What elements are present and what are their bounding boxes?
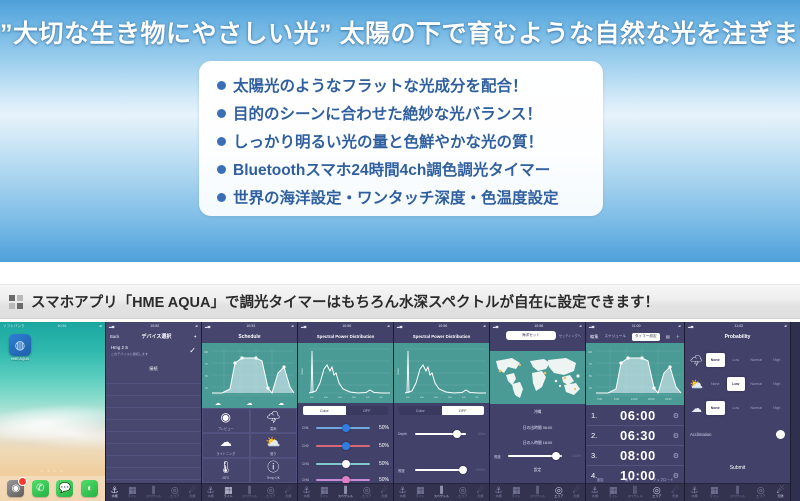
slider-ch2[interactable]: CH2 50%	[302, 440, 389, 452]
info-icon: ⓘ	[267, 461, 279, 474]
svg-text:620: 620	[366, 397, 370, 399]
app-icon-hme-aqua[interactable]: ◍	[9, 334, 31, 356]
svg-text:18:00: 18:00	[648, 397, 655, 401]
sun-cloud-icon: ⛅	[266, 436, 281, 449]
prob-option-none[interactable]: None	[706, 401, 725, 415]
gear-icon[interactable]: ⚙	[673, 412, 679, 420]
battery-icon: ▰	[678, 324, 681, 328]
prob-option-normal[interactable]: Normal	[747, 353, 766, 367]
hero-banner: ”大切な生き物にやさしい光” 太陽の下で育むような自然な光を注ぎます 太陽光のよ…	[0, 0, 800, 262]
tab-light[interactable]: ▦ライト	[608, 486, 617, 499]
status-bar: ソフトバンク 10:51 ▰	[0, 322, 105, 330]
nav-sub: スケジュール	[605, 334, 626, 339]
bullet-dot-icon	[217, 165, 226, 174]
slider-label: Depth	[398, 432, 412, 436]
status-bar: ▂▄ 10:58 ▰	[490, 322, 585, 330]
timer-index: 1.	[591, 411, 603, 420]
slider-label: CH4	[302, 478, 313, 482]
sunrise-label: 日の出時間 06:00	[490, 426, 585, 431]
battery-icon: ▰	[99, 324, 102, 328]
tab-tank[interactable]: ⚓水槽	[591, 486, 599, 499]
table-row: 🌩 None Low Normal High	[688, 348, 787, 372]
nav-title: Spectral Power Distribution	[317, 334, 375, 339]
carrier-label: ▂▄	[493, 324, 498, 328]
slider-brightness[interactable]: 照度 100%	[398, 464, 485, 476]
slider-label: 照度	[398, 468, 412, 473]
slider-knob[interactable]	[342, 424, 350, 432]
cloud-rain-icon: ☁	[688, 402, 705, 415]
acclimation-row[interactable]: Acclimation	[690, 430, 785, 439]
tab-tank[interactable]: ⚓水槽	[207, 486, 215, 499]
cloud-bolt-icon: ☁	[220, 436, 232, 449]
carrier-label: ▂▄	[109, 324, 114, 328]
battery-icon: ▰	[784, 324, 787, 328]
prob-option-high[interactable]: High	[768, 401, 787, 415]
clock-label: 10:55	[342, 324, 351, 328]
slider-knob[interactable]	[459, 466, 467, 474]
battery-icon: ▰	[483, 324, 486, 328]
svg-text:440: 440	[420, 397, 424, 399]
timer-time: 06:00	[603, 408, 673, 423]
tab-weather[interactable]: ☄天候	[776, 486, 784, 499]
phone-probability: ▂▄ 11:02 ▰ Probability 🌩 None Low Normal…	[685, 322, 791, 501]
region-label: 沖縄	[490, 410, 585, 415]
phone-spd-channels: ▂▄ 10:55 ▰ Spectral Power Distribution	[298, 322, 394, 501]
prob-option-normal[interactable]: Normal	[747, 401, 766, 415]
device-row[interactable]: Hmg 2 S このデバイスに接続します	[106, 343, 201, 358]
timer-time: 08:00	[603, 448, 673, 463]
tab-weather[interactable]: ☄天候	[188, 486, 196, 499]
device-name: Hmg 2 S	[111, 345, 196, 350]
slider-value: 50%	[373, 443, 389, 449]
battery-icon: ▰	[195, 324, 198, 328]
tab-bar: ⚓水槽 ▦ライト ⫼スペクトル ◎エリア ☄天候	[586, 483, 684, 501]
slider-value: 50%	[373, 461, 389, 467]
tab-bar: ⚓水槽 ▦ライト ⫼スペクトル ◎エリア ☄天候	[106, 483, 201, 501]
status-bar: ▂▄ 11:02 ▰	[685, 322, 790, 330]
app-screenshot-strip: ソフトバンク 10:51 ▰ ◍ HME AQUA • • • • ◉ ✆ 💬 …	[0, 322, 800, 501]
bullet-dot-icon	[217, 81, 226, 90]
tab-bar: ⚓水槽 ▦ライト ⫼スペクトル ◎エリア ☄天候	[202, 483, 297, 501]
eye-icon: ◉	[221, 411, 231, 424]
prob-option-high[interactable]: High	[768, 377, 787, 391]
slider-knob[interactable]	[342, 460, 350, 468]
slider-track[interactable]	[316, 479, 370, 481]
feature-text: しっかり明るい光の量と色鮮やかな光の質！	[233, 130, 543, 152]
status-bar: ▂▄ 10:56 ▰	[394, 322, 489, 330]
tab-weather[interactable]: ☄天候	[284, 486, 292, 499]
feature-text: 目的のシーンに合わせた絶妙な光バランス！	[233, 102, 542, 124]
svg-text:24:00: 24:00	[665, 397, 672, 401]
carrier-label: ▂▄	[205, 324, 210, 328]
timer-curve-svg: 0:006:00 12:0018:00 24:00 10075 5025	[586, 343, 684, 405]
svg-text:500: 500	[434, 397, 438, 399]
tab-light[interactable]: ▦ライト	[416, 486, 425, 499]
phone-icon[interactable]: ✆	[32, 480, 49, 497]
tab-area[interactable]: ◎エリア	[170, 486, 179, 499]
bullet-dot-icon	[217, 109, 226, 118]
tab-spectrum[interactable]: ⫼スペクトル	[242, 486, 257, 499]
spd-chart: 380440500 560620700 Power	[298, 343, 393, 403]
nav-bar: Back デバイス選択 ✦	[106, 330, 201, 343]
tile-label: 28°C	[222, 476, 229, 480]
tab-light[interactable]: ▦ライト	[710, 486, 719, 499]
clock-label: 10:56	[438, 324, 447, 328]
carrier-label: ▂▄	[301, 324, 306, 328]
slider-depth[interactable]: Depth 60m	[398, 428, 485, 440]
phone-spd-depth: ▂▄ 10:56 ▰ Spectral Power Distribution	[394, 322, 490, 501]
tile-thunderstorm[interactable]: 🌩 雷雨	[250, 408, 298, 433]
status-bar: ▂▄ 11:00 ▰	[586, 322, 684, 330]
slider-track[interactable]	[316, 445, 370, 447]
page-root: ”大切な生き物にやさしい光” 太陽の下で育むような自然な光を注ぎます 太陽光のよ…	[0, 0, 800, 501]
prob-option-low[interactable]: Low	[727, 401, 746, 415]
svg-text:500: 500	[338, 397, 342, 399]
phone-world-map: ▂▄ 10:58 ▰ 海洋セット セッティングへ	[490, 322, 586, 501]
svg-text:0:00: 0:00	[597, 397, 603, 401]
slider-label: 照度	[494, 454, 505, 459]
battery-icon: ▰	[291, 324, 294, 328]
slider-track[interactable]	[415, 469, 466, 471]
tab-bar: ⚓水槽 ▦ライト ⫼スペクトル ◎エリア ☄天候	[490, 483, 585, 501]
tab-weather[interactable]: ☄天候	[476, 486, 484, 499]
storm-cloud-icon: 🌩	[266, 411, 281, 424]
slider-ch1[interactable]: CH1 50%	[302, 422, 389, 434]
world-map-image[interactable]	[490, 351, 585, 404]
tile-cloudy[interactable]: ⛅ 曇り	[250, 433, 298, 458]
svg-text:560: 560	[352, 397, 356, 399]
page-dots: • • • •	[0, 468, 105, 473]
clock-label: 10:58	[534, 324, 543, 328]
list-item: 世界の海洋設定・ワンタッチ深度・色温度設定	[217, 184, 593, 210]
weather-timeline: ☁ ☁ ☁	[202, 398, 297, 408]
svg-text:700: 700	[379, 397, 383, 399]
tab-area[interactable]: ◎エリア	[362, 486, 371, 499]
gear-icon[interactable]: ⚙	[673, 452, 679, 460]
carrier-label: ソフトバンク	[3, 324, 25, 329]
svg-text:Power: Power	[301, 368, 304, 375]
prob-option-none[interactable]: None	[706, 377, 725, 391]
sunset-label: 日の入時間 18:00	[490, 441, 585, 446]
tab-spectrum[interactable]: ⫼スペクトル	[146, 486, 161, 499]
tab-bar: ⚓水槽 ▦ライト ⫼スペクトル ◎エリア ☄天候	[298, 483, 393, 501]
nav-title: Spectral Power Distribution	[413, 334, 471, 339]
slider-value: 60m	[469, 432, 485, 436]
nav-bar: Probability	[685, 330, 790, 343]
notification-badge	[18, 477, 27, 486]
tab-tank[interactable]: ⚓水槽	[691, 486, 699, 499]
apply-button[interactable]: 設定	[490, 468, 585, 473]
add-action[interactable]: 追加	[597, 477, 604, 482]
tab-area[interactable]: ◎エリア	[554, 486, 563, 499]
camera-icon[interactable]: ◉	[7, 480, 24, 497]
battery-icon: ▰	[387, 324, 390, 328]
slider-label: CH1	[302, 426, 313, 430]
tile-temp-status[interactable]: ⓘ Temp OK	[250, 458, 298, 483]
slider-knob[interactable]	[552, 452, 560, 460]
feature-text: 世界の海洋設定・ワンタッチ深度・色温度設定	[233, 186, 559, 208]
slider-brightness[interactable]: 照度 100%	[494, 450, 581, 462]
dock: ◉ ✆ 💬 ◖	[0, 476, 105, 501]
phone-schedule: ▂▄ 10:53 ▰ Schedule	[202, 322, 298, 501]
tab-area[interactable]: ◎エリア	[756, 486, 765, 499]
slider-value: 100%	[469, 468, 485, 472]
timer-index: 3.	[591, 451, 603, 460]
table-row: ☁ None Low Normal High	[688, 396, 787, 420]
slider-knob[interactable]	[342, 442, 350, 450]
gear-icon[interactable]: ⚙	[673, 432, 679, 440]
svg-text:440: 440	[324, 397, 328, 399]
list-item: Bluetoothスマホ24時間4ch調色調光タイマー	[217, 156, 593, 182]
tile-lightning[interactable]: ☁ ライトニング	[202, 433, 250, 458]
svg-text:100: 100	[204, 351, 209, 354]
storm-cloud-icon: 🌩	[688, 354, 705, 367]
prob-option-none[interactable]: None	[706, 353, 725, 367]
nav-bar: Schedule	[202, 330, 297, 343]
prob-option-normal[interactable]: Normal	[747, 377, 766, 391]
svg-text:75: 75	[589, 363, 592, 366]
schedule-curve-svg: 0:006:00 12:0018:00 24:00 10075 5025	[202, 343, 297, 405]
mode-segmented-control[interactable]: Color OFF	[303, 406, 388, 415]
nav-title: Probability	[725, 334, 751, 340]
submit-button[interactable]: Submit	[685, 465, 790, 471]
svg-text:Power: Power	[397, 368, 400, 375]
timer-setting-pill[interactable]: タイマー設定	[632, 333, 660, 341]
tab-light[interactable]: ▦ライト	[320, 486, 329, 499]
clock-label: 11:00	[632, 324, 641, 328]
phone-timer-list: ▂▄ 11:00 ▰ 編集 スケジュール タイマー設定 ▤ ＋	[586, 322, 685, 501]
copy-action[interactable]: 複写	[625, 477, 632, 482]
cloud-icon: ☁	[246, 400, 252, 407]
tab-area[interactable]: ◎エリア	[652, 486, 661, 499]
tab-tank[interactable]: ⚓水槽	[495, 486, 503, 499]
tile-temperature[interactable]: 🌡 28°C	[202, 458, 250, 483]
bullet-dot-icon	[217, 193, 226, 202]
cloud-icon: ☁	[278, 400, 284, 407]
svg-text:380: 380	[310, 397, 314, 399]
battery-icon: ▰	[579, 324, 582, 328]
ocean-preset-button[interactable]: 海洋セット	[506, 331, 556, 340]
svg-text:25: 25	[205, 387, 208, 390]
slider-label: CH2	[302, 444, 313, 448]
tab-weather[interactable]: ☄天候	[671, 486, 679, 499]
svg-text:25: 25	[589, 387, 592, 390]
tab-bar: ⚓水槽 ▦ライト ⫼スペクトル ◎エリア ☄天候	[394, 483, 489, 501]
tab-area[interactable]: ◎エリア	[266, 486, 275, 499]
mode-segmented-control[interactable]: Color OFF	[399, 406, 484, 415]
check-icon: ✓	[189, 346, 196, 355]
slider-track[interactable]	[508, 455, 562, 457]
seg-color[interactable]: Color	[303, 406, 346, 415]
svg-text:50: 50	[205, 375, 208, 378]
slider-track[interactable]	[316, 427, 370, 429]
prob-option-low[interactable]: Low	[727, 353, 746, 367]
svg-text:560: 560	[448, 397, 452, 399]
section-title: スマホアプリ「HME AQUA」で調光タイマーはもちろん水深スペクトルが自在に設…	[31, 291, 659, 312]
tab-spectrum[interactable]: ⫼スペクトル	[530, 486, 545, 499]
nav-title: Schedule	[238, 334, 260, 340]
tab-tank[interactable]: ⚓水槽	[111, 486, 119, 499]
tile-label: プレビュー	[218, 426, 234, 431]
edit-button[interactable]: 編集	[590, 334, 598, 340]
nav-title: デバイス選択	[141, 333, 171, 340]
nav-bar: Spectral Power Distribution	[298, 330, 393, 343]
svg-text:6:00: 6:00	[614, 397, 620, 401]
back-button[interactable]: Back	[110, 334, 119, 339]
empty-rows	[106, 372, 201, 492]
svg-text:620: 620	[462, 397, 466, 399]
seg-off[interactable]: OFF	[346, 406, 389, 415]
feature-card: 太陽光のようなフラットな光成分を配合！ 目的のシーンに合わせた絶妙な光バランス！…	[199, 61, 603, 216]
toggle-knob[interactable]	[776, 430, 785, 439]
probability-grid: 🌩 None Low Normal High ⛅ None Low Normal…	[688, 348, 787, 420]
carrier-label: ▂▄	[397, 324, 402, 328]
tile-label: 曇り	[270, 451, 276, 456]
spd-curve-svg: 380440500 560620700 Power	[298, 343, 393, 403]
tile-label: ライトニング	[216, 451, 235, 456]
cloud-icon: ☁	[215, 400, 221, 407]
spd-curve-svg: 380440500 560620700 Power	[394, 343, 489, 403]
tab-spectrum[interactable]: ⫼スペクトル	[730, 486, 745, 499]
phone-home-screen: ソフトバンク 10:51 ▰ ◍ HME AQUA • • • • ◉ ✆ 💬 …	[0, 322, 106, 501]
tile-preview[interactable]: ◉ プレビュー	[202, 408, 250, 433]
bullet-dot-icon	[217, 137, 226, 146]
slider-track[interactable]	[316, 463, 370, 465]
tab-tank[interactable]: ⚓水槽	[399, 486, 407, 499]
table-row: ⛅ None Low Normal High	[688, 372, 787, 396]
slider-value: 50%	[373, 425, 389, 431]
tab-tank[interactable]: ⚓水槽	[303, 486, 311, 499]
tab-light[interactable]: ▦ライト	[128, 486, 137, 499]
line-icon[interactable]: ◖	[81, 480, 98, 497]
svg-text:700: 700	[475, 397, 479, 399]
clock-label: 10:51	[57, 324, 66, 328]
seg-off[interactable]: OFF	[442, 406, 485, 415]
slider-track[interactable]	[415, 433, 466, 435]
section-header: スマホアプリ「HME AQUA」で調光タイマーはもちろん水深スペクトルが自在に設…	[0, 284, 800, 319]
list-item: 目的のシーンに合わせた絶妙な光バランス！	[217, 100, 593, 126]
svg-text:50: 50	[589, 375, 592, 378]
grid-2x2-icon	[9, 295, 23, 309]
seg-color[interactable]: Color	[399, 406, 442, 415]
tile-label: 雷雨	[270, 426, 276, 431]
timer-time: 06:30	[603, 428, 673, 443]
carrier-label: ▂▄	[688, 324, 693, 328]
tab-area[interactable]: ◎エリア	[458, 486, 467, 499]
status-bar: ▂▄ 10:55 ▰	[298, 322, 393, 330]
schedule-chart: 0:006:00 12:0018:00 24:00 10075 5025	[202, 343, 297, 405]
prob-option-high[interactable]: High	[768, 353, 787, 367]
timer-chart: 0:006:00 12:0018:00 24:00 10075 5025	[586, 343, 684, 405]
tab-spectrum[interactable]: ⫼スペクトル	[338, 486, 353, 499]
table-row[interactable]: 3. 08:00 ⚙	[586, 446, 684, 466]
hero-title: ”大切な生き物にやさしい光” 太陽の下で育むような自然な光を注ぎます	[0, 14, 800, 50]
tab-spectrum[interactable]: ⫼スペクトル	[434, 486, 449, 499]
tab-light[interactable]: ▦ライト	[512, 486, 521, 499]
svg-text:100: 100	[588, 351, 593, 354]
bulb-icon: ◍	[15, 338, 25, 352]
bluetooth-icon[interactable]: ✦	[193, 334, 197, 339]
carrier-label: ▂▄	[589, 324, 594, 328]
list-item: 太陽光のようなフラットな光成分を配合！	[217, 72, 593, 98]
device-sub: このデバイスに接続します	[111, 351, 196, 356]
clock-label: 11:02	[734, 324, 743, 328]
tab-spectrum[interactable]: ⫼スペクトル	[627, 486, 642, 499]
settings-link[interactable]: セッティングへ	[559, 333, 581, 338]
sun-cloud-icon: ⛅	[688, 378, 705, 391]
list-item: しっかり明るい光の量と色鮮やかな光の質！	[217, 128, 593, 154]
tab-weather[interactable]: ☄天候	[380, 486, 388, 499]
prob-option-low[interactable]: Low	[727, 377, 746, 391]
slider-knob[interactable]	[453, 430, 461, 438]
table-row[interactable]: 2. 06:30 ⚙	[586, 426, 684, 446]
nav-bar: 編集 スケジュール タイマー設定 ▤ ＋	[586, 330, 684, 343]
clock-label: 10:53	[246, 324, 255, 328]
thermometer-icon: 🌡	[218, 461, 233, 474]
status-bar: ▂▄ 10:52 ▰	[106, 322, 201, 330]
svg-text:75: 75	[205, 363, 208, 366]
messages-icon[interactable]: 💬	[56, 480, 73, 497]
timer-index: 2.	[591, 431, 603, 440]
table-row[interactable]: 1. 06:00 ⚙	[586, 406, 684, 426]
slider-ch3[interactable]: CH3 50%	[302, 458, 389, 470]
svg-text:380: 380	[406, 397, 410, 399]
feature-text: 太陽光のようなフラットな光成分を配合！	[233, 74, 528, 96]
tile-label: Temp OK	[267, 476, 280, 480]
feature-list: 太陽光のようなフラットな光成分を配合！ 目的のシーンに合わせた絶妙な光バランス！…	[217, 72, 593, 212]
slider-label: CH3	[302, 462, 313, 466]
add-icon[interactable]: ＋	[676, 334, 680, 340]
tab-light[interactable]: ▦ライト	[224, 486, 233, 499]
feature-text: Bluetoothスマホ24時間4ch調色調光タイマー	[233, 158, 550, 180]
tab-bar: ⚓水槽 ▦ライト ⫼スペクトル ◎エリア ☄天候	[685, 483, 790, 501]
clock-label: 10:52	[150, 324, 159, 328]
app-icon-label: HME AQUA	[3, 357, 37, 361]
status-bar: ▂▄ 10:53 ▰	[202, 322, 297, 330]
upload-action[interactable]: アップロード	[653, 477, 673, 482]
acclimation-label: Acclimation	[690, 432, 711, 437]
calendar-icon[interactable]: ▤	[666, 334, 670, 339]
nav-bar: Spectral Power Distribution	[394, 330, 489, 343]
tab-weather[interactable]: ☄天候	[572, 486, 580, 499]
svg-text:12:00: 12:00	[631, 397, 638, 401]
phone-device-list: ▂▄ 10:52 ▰ Back デバイス選択 ✦ Hmg 2 S このデバイスに…	[106, 322, 202, 501]
world-map-svg	[490, 351, 585, 404]
slider-value: 100%	[565, 454, 581, 458]
spd-chart: 380440500 560620700 Power	[394, 343, 489, 403]
